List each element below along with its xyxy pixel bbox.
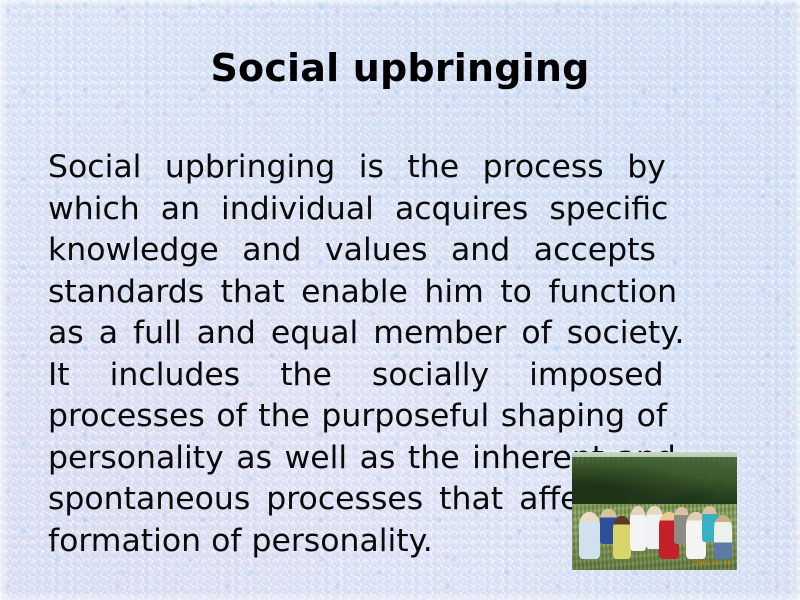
photo-figure [579, 512, 600, 559]
page-title: Social upbringing [40, 48, 760, 90]
body-line: It includes the socially imposed [48, 355, 753, 397]
body-line: as a full and equal member of society. [48, 313, 753, 355]
photo-timestamp: 2004 06 26 [693, 560, 732, 567]
body-line: Social upbringing is the process by [48, 147, 753, 189]
body-line: processes of the purposeful shaping of [48, 396, 753, 438]
slide-canvas: Social upbringing Social upbringing is t… [0, 0, 800, 600]
photo-figure [613, 516, 631, 560]
body-line: standards that enable him to function [48, 272, 753, 314]
photo-figure [714, 515, 732, 560]
photo-tree-line [572, 457, 737, 510]
circle-dance-photo: 2004 06 26 [572, 452, 737, 570]
photo-figure [630, 506, 647, 551]
body-line: which an individual acquires specific [48, 189, 753, 231]
body-line: knowledge and values and accepts [48, 230, 753, 272]
